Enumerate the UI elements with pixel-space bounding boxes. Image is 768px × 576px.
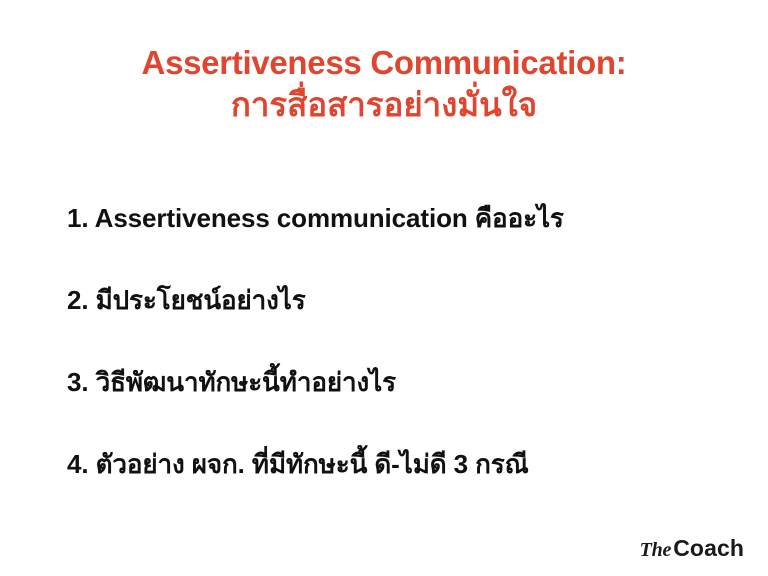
list-item: 4. ตัวอย่าง ผจก. ที่มีทักษะนี้ ดี-ไม่ดี …	[67, 449, 727, 531]
power-notch-icon	[696, 536, 699, 543]
logo-word-the: The	[640, 539, 672, 562]
title-line-thai: การสื่อสารอย่างมั่นใจ	[0, 82, 768, 129]
agenda-list: 1. Assertiveness communication คืออะไร 2…	[67, 203, 727, 531]
list-item: 1. Assertiveness communication คืออะไร	[67, 203, 727, 285]
logo-power-icon: o	[690, 535, 704, 562]
logo-letters-ach: ach	[704, 535, 744, 562]
logo-word-coach: C o ach	[673, 535, 744, 562]
list-item: 3. วิธีพัฒนาทักษะนี้ทำอย่างไร	[67, 367, 727, 449]
brand-logo: The C o ach	[640, 535, 744, 562]
slide-title: Assertiveness Communication: การสื่อสารอ…	[0, 44, 768, 129]
title-line-english: Assertiveness Communication:	[0, 44, 768, 82]
list-item: 2. มีประโยชน์อย่างไร	[67, 285, 727, 367]
slide-canvas: Assertiveness Communication: การสื่อสารอ…	[0, 0, 768, 576]
logo-letter-c: C	[673, 535, 690, 562]
